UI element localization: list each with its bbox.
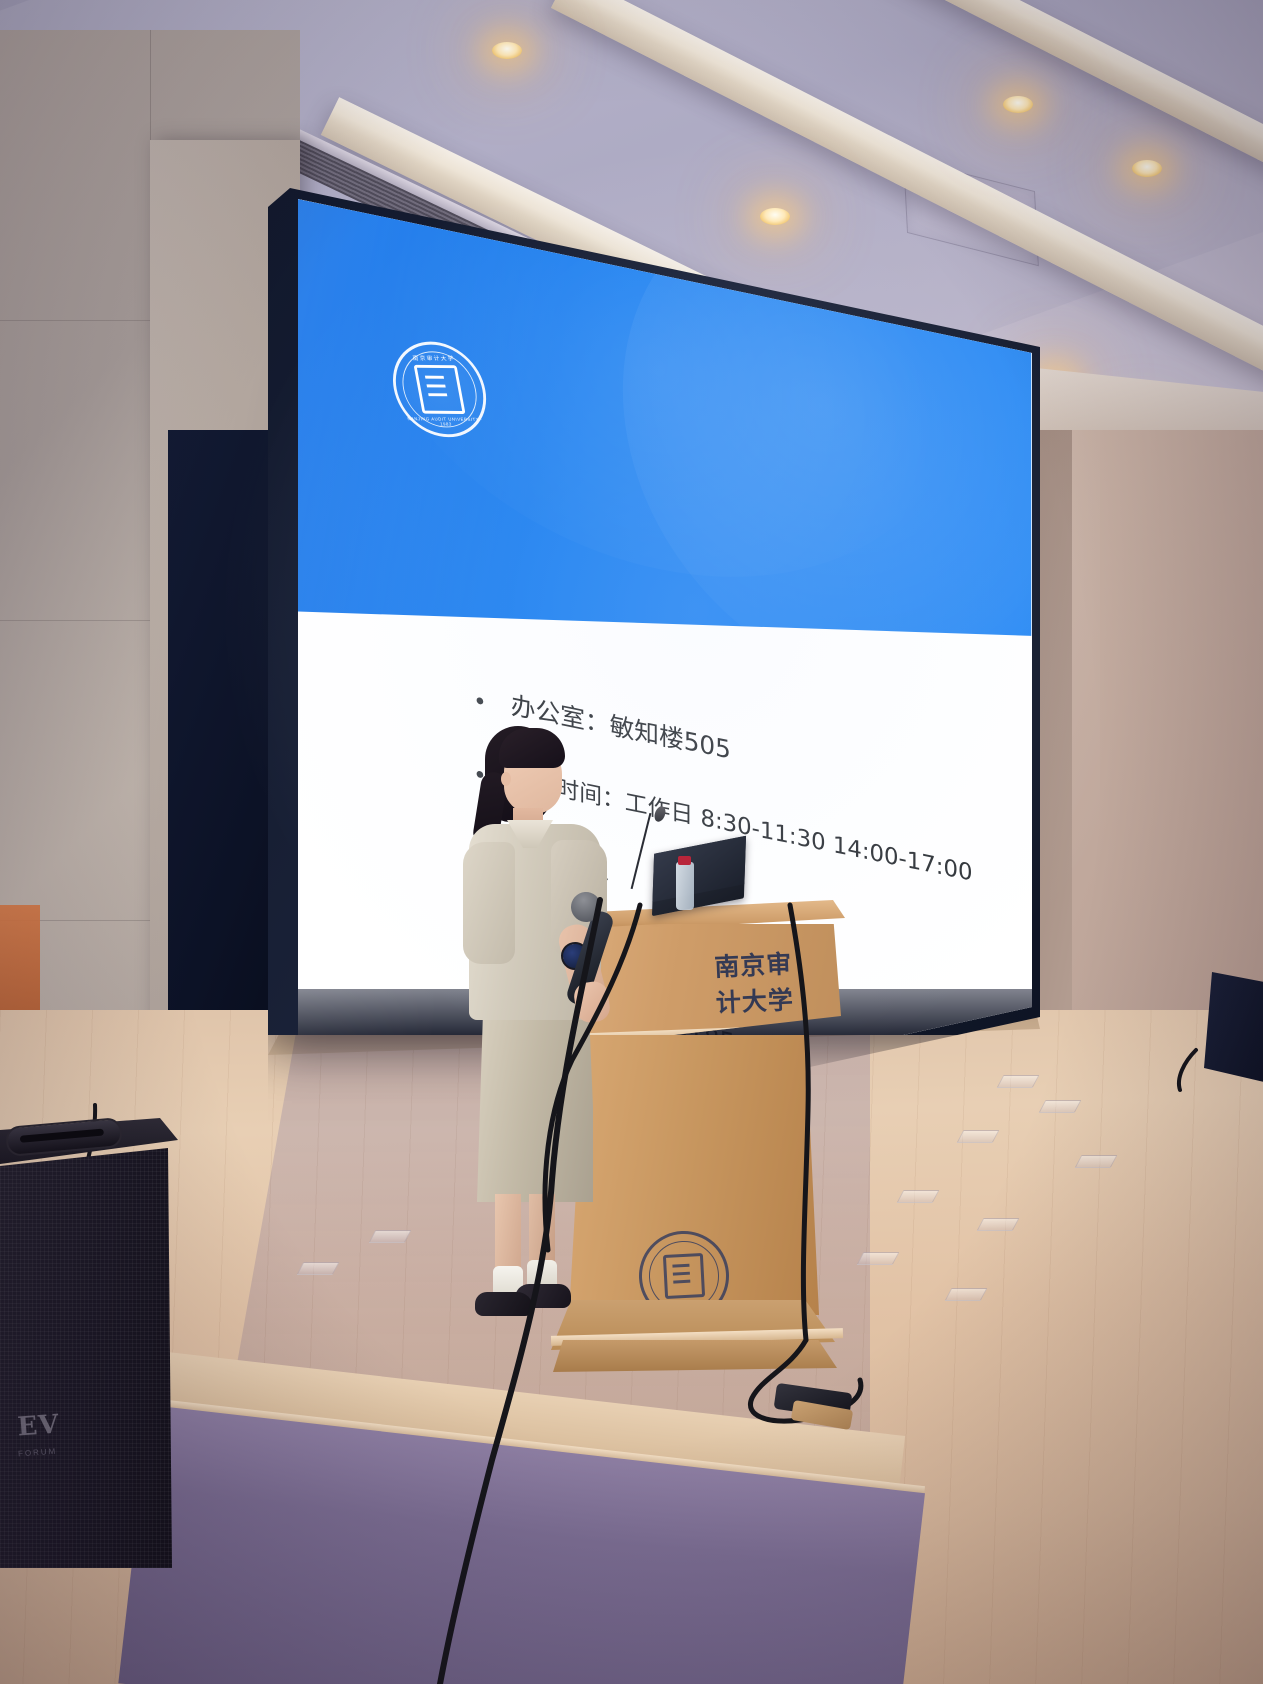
wall-tile <box>0 320 151 621</box>
floor-access-plate <box>369 1230 412 1243</box>
skirt <box>477 1012 593 1202</box>
photo-scene: 南京审计大学 NANJING AUDIT UNIVERSITY · 1983 办… <box>0 0 1263 1684</box>
presenter <box>455 720 625 1340</box>
ceiling-downlight-icon <box>1132 160 1162 177</box>
wall-tile <box>0 30 151 321</box>
podium-plinth <box>553 1340 837 1372</box>
seal-glyph <box>414 365 466 414</box>
floor-access-plate <box>997 1075 1040 1088</box>
water-bottle <box>676 862 694 910</box>
pa-speaker-grille: EV FORUM <box>0 1148 172 1568</box>
floor-access-plate <box>1075 1155 1118 1168</box>
water-bottle-cap <box>678 856 691 865</box>
podium-name-plate: 南京审计大学 <box>713 944 794 1019</box>
hand <box>572 980 611 1024</box>
ceiling-downlight-icon <box>492 42 522 59</box>
floor-access-plate <box>977 1218 1020 1231</box>
seal-top-text: 南京审计大学 <box>390 353 477 363</box>
left-sleeve <box>463 842 515 964</box>
pa-speaker-cabinet: EV FORUM <box>0 1118 178 1568</box>
floor-access-plate <box>957 1130 1000 1143</box>
seal-glyph <box>663 1253 705 1299</box>
pa-speaker-handle[interactable] <box>5 1117 123 1157</box>
floor-access-plate <box>857 1252 900 1265</box>
left-shoe <box>475 1292 533 1316</box>
floor-access-plate <box>297 1262 340 1275</box>
hair-fringe <box>499 728 565 768</box>
ceiling-downlight-icon <box>1003 96 1033 113</box>
floor-access-plate <box>1039 1100 1082 1113</box>
ear <box>501 772 511 786</box>
seal-bottom-text: NANJING AUDIT UNIVERSITY · 1983 <box>402 416 490 427</box>
ceiling-downlight-icon <box>760 208 790 225</box>
floor-access-plate <box>945 1288 988 1301</box>
orange-wall-panel <box>0 905 40 1015</box>
floor-access-plate <box>897 1190 940 1203</box>
right-pa-speaker <box>1204 972 1263 1082</box>
pa-model-label: FORUM <box>18 1447 58 1459</box>
wall-tile <box>0 620 151 921</box>
